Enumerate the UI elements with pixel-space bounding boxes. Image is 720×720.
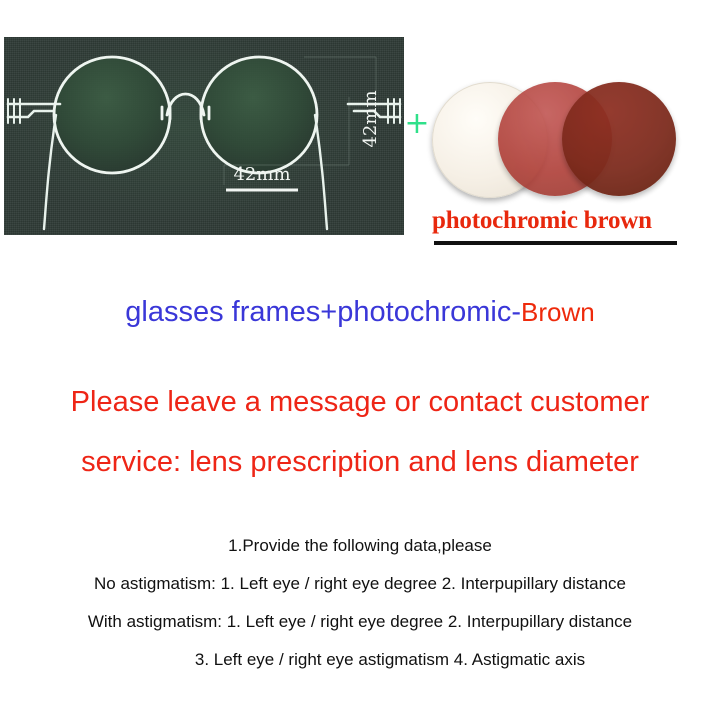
instruction-line-3: With astigmatism: 1. Left eye / right ey… [0,603,720,641]
glasses-frame-illustration: 42mm 42mm [4,37,404,235]
lens-caption: photochromic brown [432,207,682,235]
page-title-accent: Brown [521,297,595,327]
lens-caption-underline [434,241,677,245]
lens-swatch-dark-brown [562,82,676,196]
page-title-primary: glasses frames+photochromic- [125,296,521,328]
customer-message-line-2: service: lens prescription and lens diam… [0,432,720,492]
instruction-line-2: No astigmatism: 1. Left eye / right eye … [0,565,720,603]
lens-swatch-group [432,82,680,198]
page-title: glasses frames+photochromic-Brown [0,296,720,329]
customer-message: Please leave a message or contact custom… [0,372,720,492]
customer-message-line-1: Please leave a message or contact custom… [0,372,720,432]
prescription-instructions: 1.Provide the following data,please No a… [0,527,720,679]
product-photo: 42mm 42mm [4,37,404,235]
instruction-line-4: 3. Left eye / right eye astigmatism 4. A… [0,641,720,679]
dimension-label-horizontal: 42mm [233,164,290,185]
plus-icon: + [404,111,430,137]
instruction-line-1: 1.Provide the following data,please [0,527,720,565]
dimension-label-vertical: 42mm [360,90,381,147]
